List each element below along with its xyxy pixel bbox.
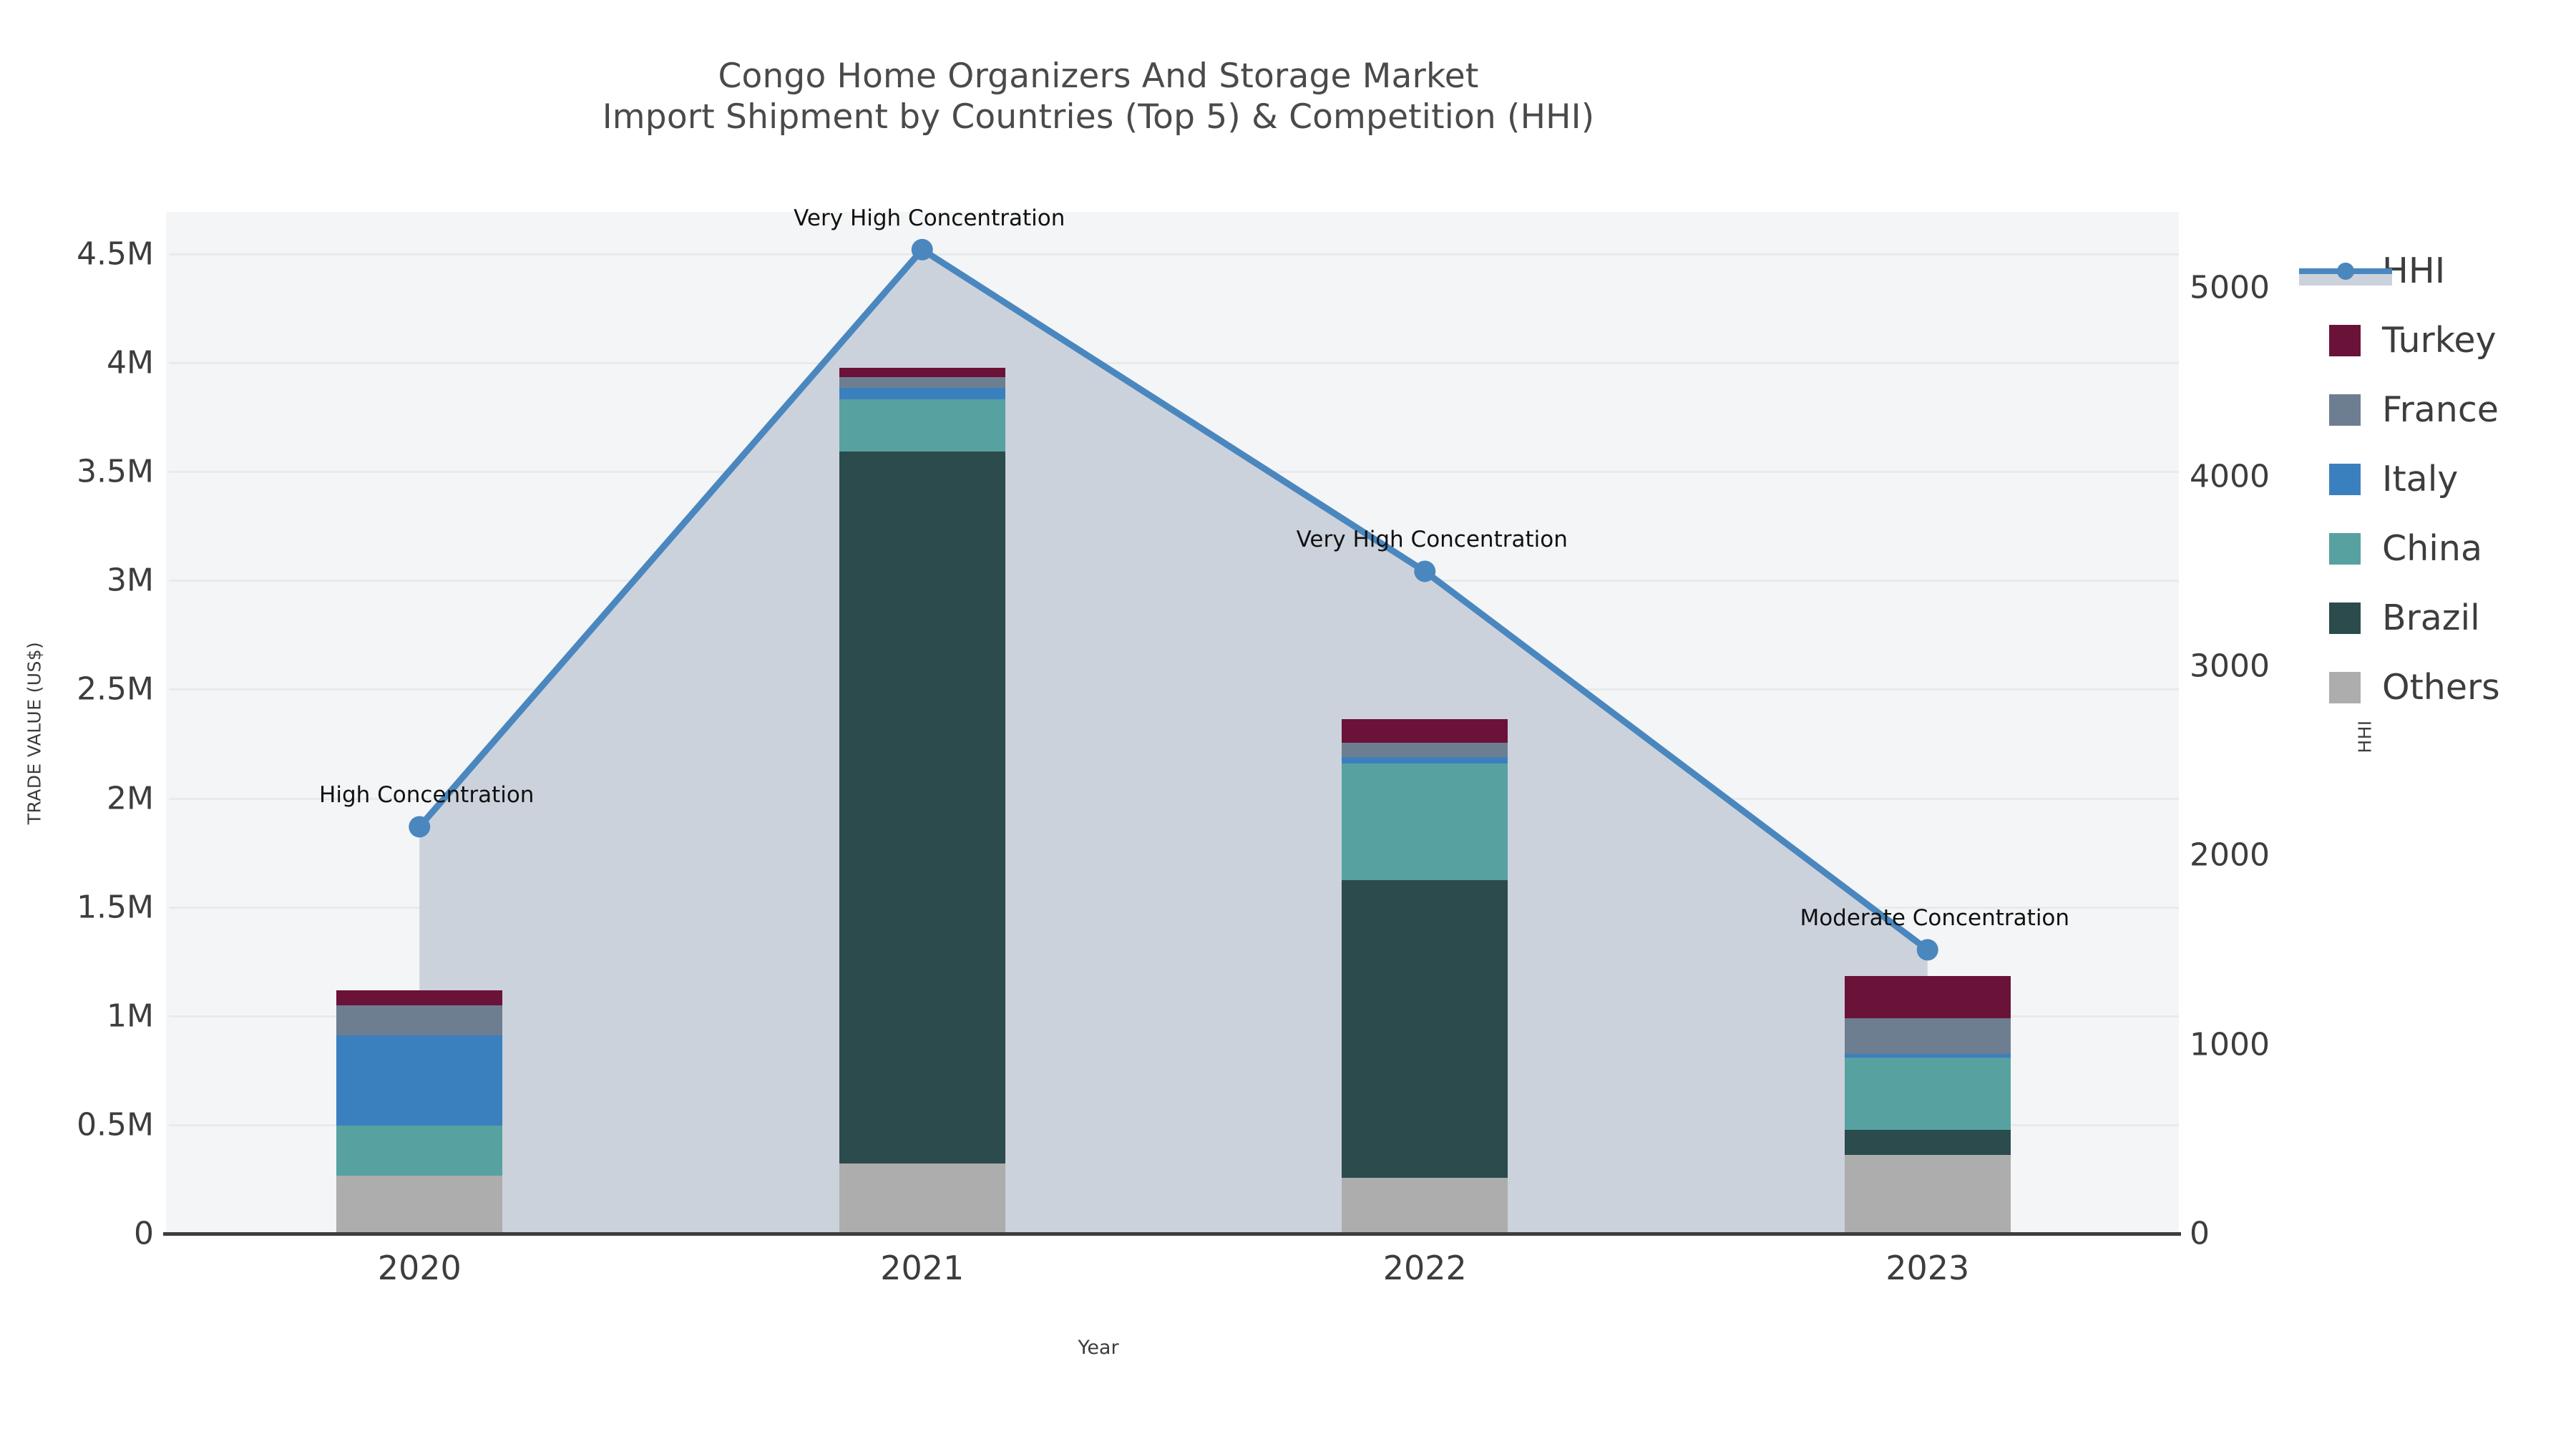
- hhi-polyline: [419, 250, 1928, 950]
- x-tick-label: 2022: [1383, 1249, 1467, 1287]
- legend-item-brazil[interactable]: Brazil: [2329, 583, 2576, 653]
- y-axis-ticks-right: 010002000300040005000: [2190, 0, 2433, 1449]
- legend-swatch-icon: [2329, 464, 2361, 495]
- legend-label: China: [2382, 531, 2482, 566]
- chart-title-line-2: Import Shipment by Countries (Top 5) & C…: [0, 97, 2197, 137]
- x-tick-label: 2023: [1885, 1249, 1969, 1287]
- legend-item-france[interactable]: France: [2329, 375, 2576, 444]
- y-tick-label: 3M: [107, 562, 154, 599]
- y-tick-label: 2M: [107, 780, 154, 816]
- legend-label: Italy: [2382, 462, 2458, 497]
- legend-item-others[interactable]: Others: [2329, 653, 2576, 722]
- y-tick-label: 0.5M: [77, 1106, 154, 1143]
- y-tick-label-secondary: 2000: [2190, 837, 2270, 874]
- y-tick-label-secondary: 4000: [2190, 459, 2270, 495]
- plot-area: [168, 212, 2179, 1234]
- legend-item-hhi[interactable]: HHI: [2329, 236, 2576, 306]
- y-axis-spine: [166, 212, 169, 1236]
- x-tick-label: 2021: [880, 1249, 964, 1287]
- legend-item-italy[interactable]: Italy: [2329, 444, 2576, 514]
- x-axis-label: Year: [0, 1337, 2197, 1359]
- annotation-label: Very High Concentration: [794, 205, 1065, 231]
- annotation-label: Moderate Concentration: [1800, 905, 2069, 931]
- legend-item-china[interactable]: China: [2329, 514, 2576, 583]
- y-tick-label: 4M: [107, 345, 154, 381]
- annotation-label: Very High Concentration: [1297, 527, 1568, 552]
- hhi-marker[interactable]: [1414, 560, 1435, 582]
- y-tick-label: 2.5M: [77, 671, 154, 708]
- legend-line-marker-icon: [2329, 255, 2361, 287]
- y-tick-label-secondary: 0: [2190, 1216, 2210, 1252]
- y-tick-label-secondary: 3000: [2190, 648, 2270, 684]
- x-tick-label: 2020: [378, 1249, 462, 1287]
- legend-label: Others: [2382, 670, 2500, 705]
- y-tick-label: 1.5M: [77, 889, 154, 925]
- hhi-marker[interactable]: [1917, 939, 1938, 960]
- y-tick-label: 1M: [107, 997, 154, 1034]
- legend-label: France: [2382, 392, 2499, 427]
- x-axis-baseline: [163, 1232, 2181, 1236]
- hhi-marker[interactable]: [912, 239, 933, 260]
- y-tick-label-secondary: 1000: [2190, 1026, 2270, 1063]
- chart-title: Congo Home Organizers And Storage Market…: [0, 56, 2197, 138]
- y-axis-ticks-left: 00.5M1M1.5M2M2.5M3M3.5M4M4.5M: [0, 0, 154, 1449]
- y-tick-label: 0: [134, 1216, 154, 1252]
- y-tick-label: 3.5M: [77, 454, 154, 490]
- chart-title-line-1: Congo Home Organizers And Storage Market: [0, 56, 2197, 97]
- legend-swatch-icon: [2329, 325, 2361, 356]
- legend-swatch-icon: [2329, 394, 2361, 426]
- annotation-label: High Concentration: [319, 782, 534, 808]
- y-axis-label-left: TRADE VALUE (US$): [24, 583, 45, 884]
- legend-swatch-icon: [2329, 533, 2361, 565]
- legend-swatch-icon: [2329, 672, 2361, 703]
- chart-canvas: Congo Home Organizers And Storage Market…: [0, 0, 2576, 1449]
- legend-item-turkey[interactable]: Turkey: [2329, 306, 2576, 375]
- legend-swatch-icon: [2329, 602, 2361, 634]
- hhi-marker[interactable]: [409, 816, 430, 837]
- legend-label: Turkey: [2382, 323, 2496, 358]
- y-tick-label: 4.5M: [77, 236, 154, 273]
- legend-label: Brazil: [2382, 600, 2480, 635]
- chart-legend: HHITurkeyFranceItalyChinaBrazilOthers: [2329, 236, 2576, 722]
- y-tick-label-secondary: 5000: [2190, 269, 2270, 306]
